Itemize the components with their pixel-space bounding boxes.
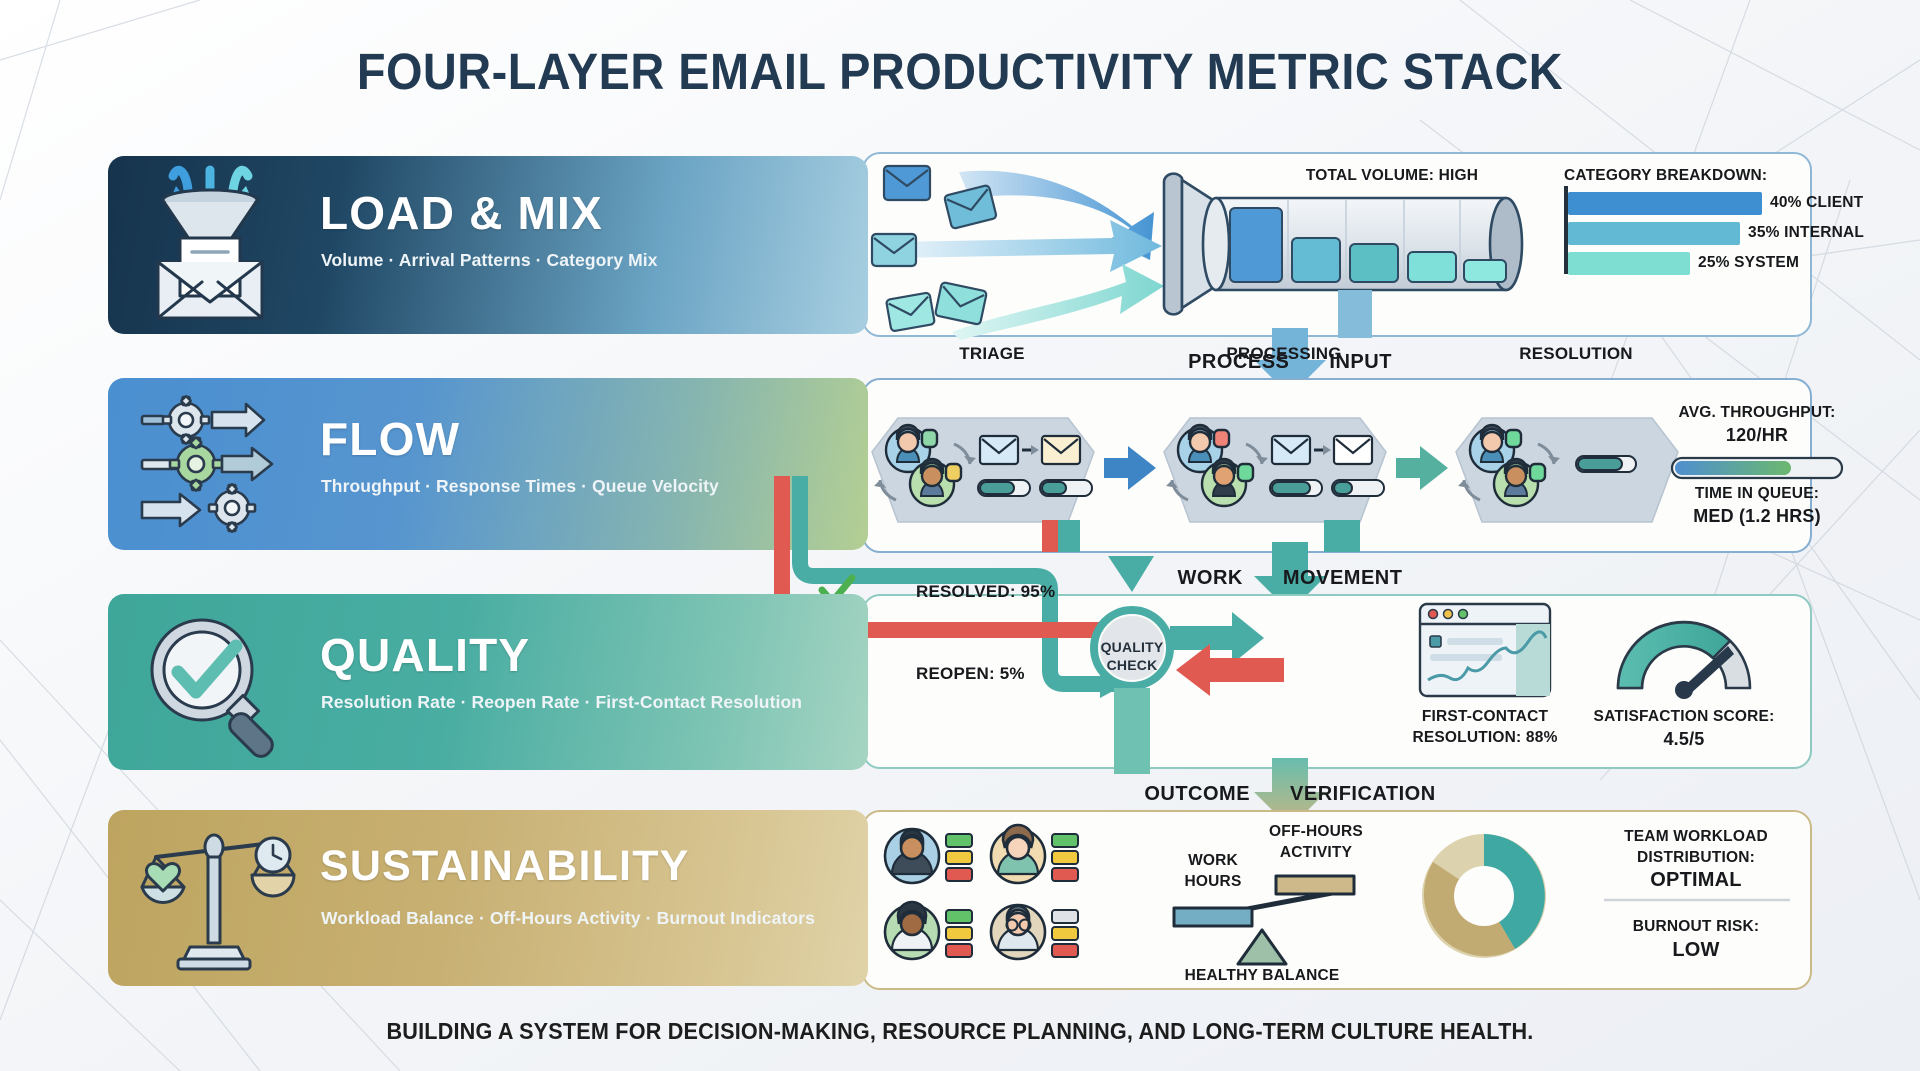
- offhours-label-line1: OFF-HOURS: [1269, 823, 1363, 841]
- layer-band-quality[interactable]: QUALITY Resolution Rate · Reopen Rate · …: [108, 594, 868, 770]
- flow-stage-label-triage: TRIAGE: [959, 344, 1024, 364]
- workload-distribution-value: OPTIMAL: [1650, 869, 1741, 892]
- connector-3-left: OUTCOME: [1144, 783, 1250, 805]
- connector-2-right: MOVEMENT: [1283, 567, 1403, 589]
- reopen-label: REOPEN: 5%: [916, 664, 1025, 684]
- connector-1-right: INPUT: [1329, 351, 1392, 373]
- quality-check-hub-line2: CHECK: [1107, 657, 1158, 673]
- connector-label-2: WORKMOVEMENT: [1178, 567, 1403, 590]
- load-panel: TOTAL VOLUME: HIGH CATEGORY BREAKDOWN: 4…: [862, 152, 1812, 337]
- connector-2-left: WORK: [1178, 567, 1243, 589]
- workload-distribution-label-line1: TEAM WORKLOAD: [1624, 828, 1768, 846]
- page-title: FOUR-LAYER EMAIL PRODUCTIVITY METRIC STA…: [77, 42, 1843, 101]
- resolved-label: RESOLVED: 95%: [916, 582, 1055, 602]
- funnel-envelope-icon: [140, 166, 290, 324]
- workload-distribution-label-line2: DISTRIBUTION:: [1637, 849, 1755, 867]
- scales-balance-icon: [140, 825, 290, 971]
- fcr-label-line2: RESOLUTION: 88%: [1412, 729, 1557, 747]
- footer-text: BUILDING A SYSTEM FOR DECISION-MAKING, R…: [58, 1018, 1863, 1045]
- layer-band-flow[interactable]: FLOW Throughput · Response Times · Queue…: [108, 378, 868, 550]
- work-hours-label-line2: HOURS: [1185, 873, 1242, 891]
- layer-subtitle-sustainability: Workload Balance · Off-Hours Activity · …: [321, 908, 815, 929]
- healthy-balance-label: HEALTHY BALANCE: [1185, 967, 1340, 985]
- layer-title-flow: FLOW: [320, 412, 460, 466]
- flow-stage-label-resolution: RESOLUTION: [1519, 344, 1632, 364]
- offhours-label-line2: ACTIVITY: [1280, 844, 1352, 862]
- flow-panel: TRIAGE PROCESSING RESOLUTION AVG. THROUG…: [862, 378, 1812, 553]
- connector-3-right: VERIFICATION: [1290, 783, 1436, 805]
- layer-title-sustainability: SUSTAINABILITY: [320, 842, 690, 891]
- category-label-client: 40% CLIENT: [1770, 194, 1863, 212]
- layer-band-sustainability[interactable]: SUSTAINABILITY Workload Balance · Off-Ho…: [108, 810, 868, 986]
- layer-band-load[interactable]: LOAD & MIX Volume · Arrival Patterns · C…: [108, 156, 868, 334]
- satisfaction-value: 4.5/5: [1663, 729, 1704, 750]
- connector-1-left: PROCESS: [1188, 351, 1289, 373]
- total-volume-label: TOTAL VOLUME: HIGH: [1306, 167, 1478, 185]
- queue-time-value: MED (1.2 HRS): [1693, 506, 1821, 527]
- satisfaction-label: SATISFACTION SCORE:: [1594, 708, 1775, 726]
- gears-arrows-icon: [140, 398, 288, 530]
- layer-subtitle-load: Volume · Arrival Patterns · Category Mix: [321, 250, 658, 271]
- work-hours-label-line1: WORK: [1188, 852, 1238, 870]
- category-label-internal: 35% INTERNAL: [1748, 224, 1864, 242]
- layer-subtitle-quality: Resolution Rate · Reopen Rate · First-Co…: [321, 692, 802, 713]
- quality-check-hub-line1: QUALITY: [1101, 639, 1164, 655]
- burnout-risk-value: LOW: [1672, 939, 1719, 962]
- sustainability-panel: WORK HOURS OFF-HOURS ACTIVITY HEALTHY BA…: [862, 810, 1812, 990]
- connector-label-1: PROCESSINPUT: [1188, 351, 1392, 374]
- layer-title-quality: QUALITY: [320, 628, 530, 682]
- layer-subtitle-flow: Throughput · Response Times · Queue Velo…: [321, 476, 719, 497]
- layer-title-load: LOAD & MIX: [320, 186, 603, 240]
- throughput-label: AVG. THROUGHPUT:: [1678, 404, 1835, 422]
- category-label-system: 25% SYSTEM: [1698, 254, 1799, 272]
- burnout-risk-label: BURNOUT RISK:: [1633, 918, 1760, 936]
- connector-label-3: OUTCOMEVERIFICATION: [1144, 783, 1435, 806]
- quality-panel: RESOLVED: 95% REOPEN: 5% QUALITY CHECK F…: [862, 594, 1812, 769]
- throughput-value: 120/HR: [1726, 425, 1788, 446]
- magnifier-check-icon: [140, 612, 290, 752]
- fcr-label-line1: FIRST-CONTACT: [1422, 708, 1548, 726]
- category-breakdown-label: CATEGORY BREAKDOWN:: [1564, 167, 1767, 185]
- queue-time-label: TIME IN QUEUE:: [1695, 485, 1819, 503]
- flow-panel-graphic: [864, 380, 1810, 551]
